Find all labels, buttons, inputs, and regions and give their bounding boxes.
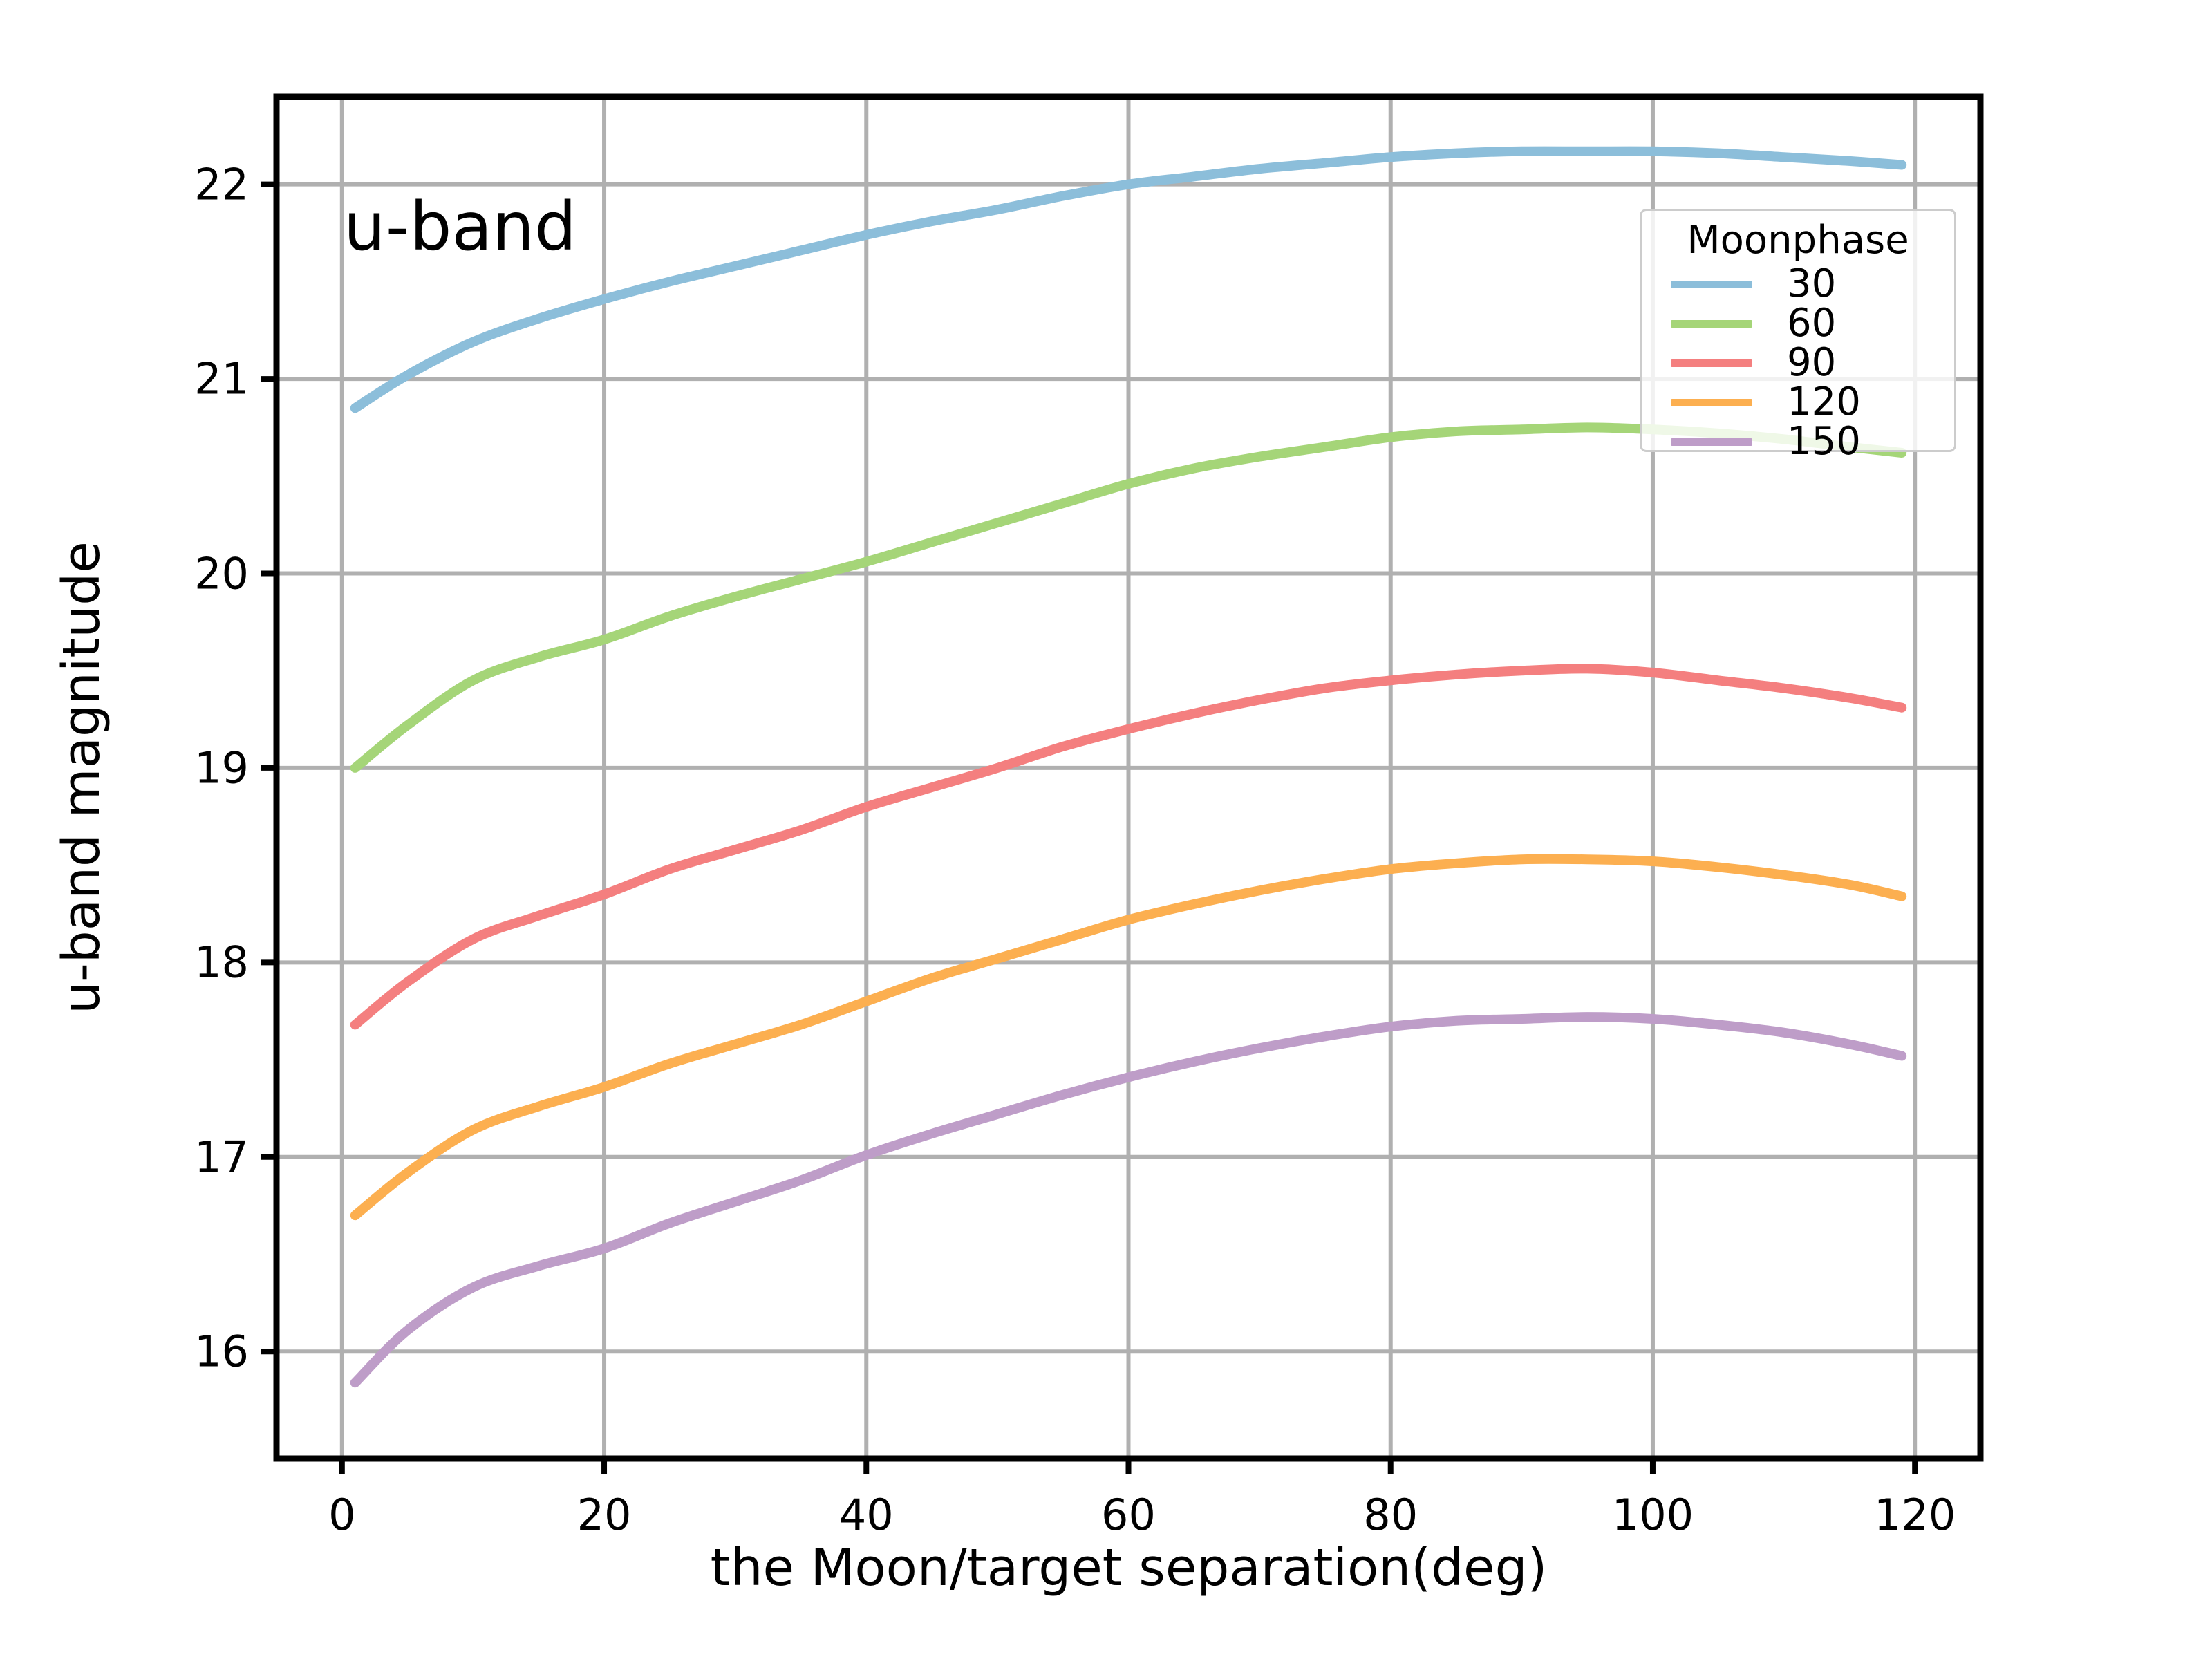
y-tick-label: 20 [118, 548, 249, 599]
y-tick-label: 17 [118, 1132, 249, 1182]
y-tick-label: 16 [118, 1327, 249, 1377]
legend-label-120: 120 [1787, 383, 1861, 422]
legend-entry-30[interactable]: 30 [1642, 268, 1954, 301]
legend-swatch-150 [1671, 438, 1752, 446]
x-tick-label: 60 [1101, 1490, 1156, 1540]
x-axis-title: the Moon/target separation(deg) [711, 1538, 1548, 1597]
legend-entry-120[interactable]: 120 [1642, 386, 1954, 419]
x-tick-label: 0 [328, 1490, 355, 1540]
y-tick-label: 18 [118, 937, 249, 988]
legend-swatch-60 [1671, 320, 1752, 328]
legend-entry-150[interactable]: 150 [1642, 425, 1954, 458]
legend-swatch-90 [1671, 359, 1752, 367]
x-tick-label: 120 [1874, 1490, 1956, 1540]
y-tick-label: 21 [118, 354, 249, 404]
x-tick-label: 80 [1363, 1490, 1418, 1540]
x-tick-label: 40 [839, 1490, 894, 1540]
x-tick-label: 20 [577, 1490, 632, 1540]
legend-label-60: 60 [1787, 304, 1836, 343]
legend-swatch-30 [1671, 281, 1752, 288]
y-tick-label: 22 [118, 159, 249, 209]
legend-entry-90[interactable]: 90 [1642, 346, 1954, 379]
legend-label-30: 30 [1787, 265, 1836, 303]
legend-title: Moonphase [1642, 218, 1954, 263]
legend-swatch-120 [1671, 399, 1752, 406]
x-tick-label: 100 [1612, 1490, 1694, 1540]
legend-entry-60[interactable]: 60 [1642, 307, 1954, 340]
legend: Moonphase 306090120150 [1640, 209, 1956, 452]
band-annotation: u-band [344, 188, 577, 265]
y-axis-title: u-band magnitude [52, 541, 111, 1014]
y-tick-label: 19 [118, 742, 249, 793]
chart-figure: 16171819202122 020406080100120 u-band ma… [0, 0, 2212, 1659]
legend-label-150: 150 [1787, 422, 1861, 461]
legend-label-90: 90 [1787, 344, 1836, 382]
